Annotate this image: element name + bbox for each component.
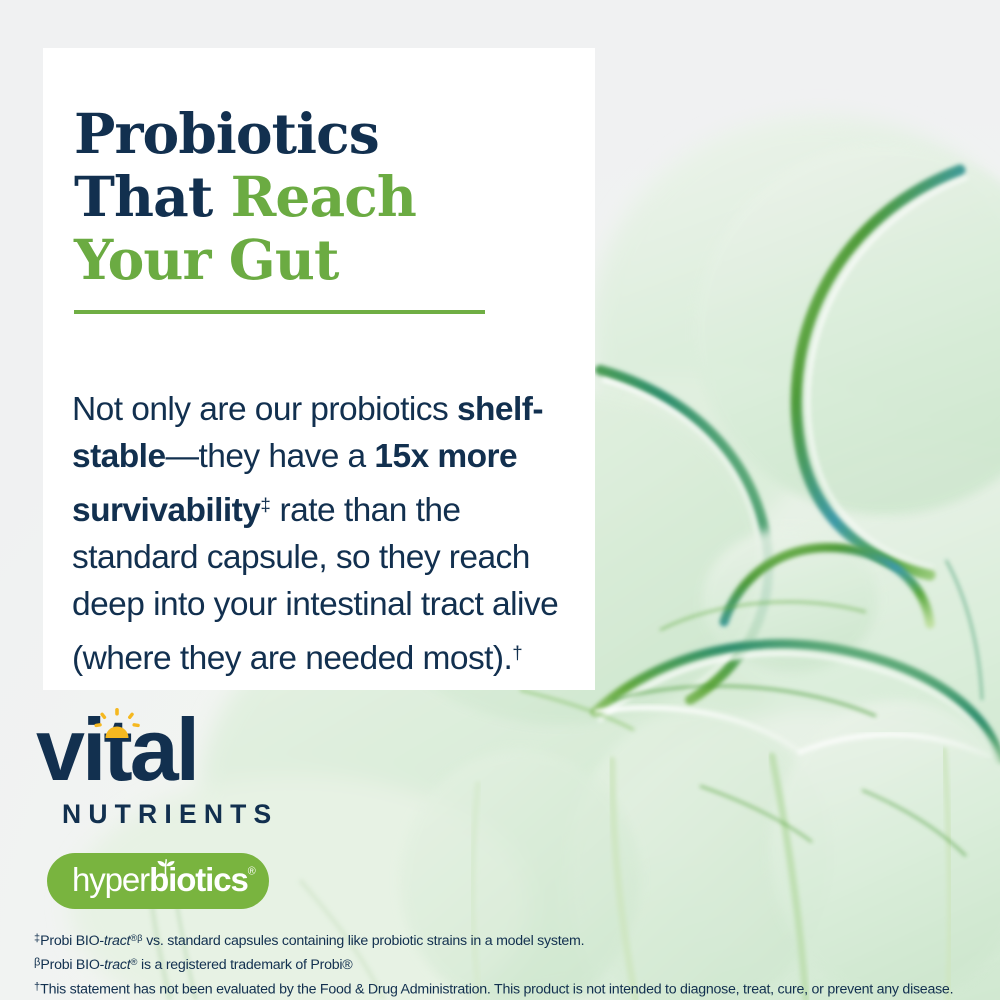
headline-line-1: Probiotics — [74, 101, 379, 166]
footnote-3-text: This statement has not been evaluated by… — [40, 981, 953, 997]
footnote-2-post: is a registered trademark of Probi® — [137, 957, 352, 973]
footnote-2-italic: tract — [104, 957, 130, 973]
headline-line-2-navy: That — [74, 164, 231, 229]
footnote-1-italic: tract — [104, 933, 130, 949]
footnote-line-1: ‡Probi BIO-tract®β vs. standard capsules… — [34, 928, 984, 952]
footnote-1-pre: Probi BIO- — [40, 933, 104, 949]
nutrients-subtitle: NUTRIENTS — [62, 799, 278, 830]
footnote-marker-dagger: † — [512, 642, 522, 663]
green-divider-rule — [74, 310, 485, 314]
footnote-1-post: vs. standard capsules containing like pr… — [143, 933, 585, 949]
registered-trademark-mark: ® — [248, 865, 256, 877]
hyperbiotics-badge: hyperbiotics® — [47, 853, 269, 909]
hyperbiotics-thin-text: hyper — [72, 861, 149, 898]
headline-line-2-green: Reach — [231, 164, 416, 229]
footnote-line-3: †This statement has not been evaluated b… — [34, 977, 984, 1000]
leaf-sprout-icon — [154, 857, 176, 877]
footnote-2-pre: Probi BIO- — [40, 957, 104, 973]
footnote-block: ‡Probi BIO-tract®β vs. standard capsules… — [34, 928, 984, 1000]
product-marketing-graphic: ProbioticsThat ReachYour Gut Not only ar… — [0, 0, 1000, 1000]
footnote-line-2: βProbi BIO-tract® is a registered tradem… — [34, 952, 984, 976]
body-segment-2: —they have a — [166, 438, 375, 475]
footnote-marker-double-dagger: ‡ — [260, 494, 270, 515]
body-segment-1: Not only are our probiotics — [72, 391, 457, 428]
page-title: ProbioticsThat ReachYour Gut — [74, 103, 544, 292]
footnote-1-marks: ®β — [130, 933, 142, 943]
body-paragraph: Not only are our probiotics shelf-stable… — [72, 386, 578, 683]
vital-nutrients-logo: vital NUTRIENTS — [36, 706, 296, 836]
sun-icon — [94, 708, 140, 738]
headline-line-3-green: Your Gut — [74, 227, 338, 292]
